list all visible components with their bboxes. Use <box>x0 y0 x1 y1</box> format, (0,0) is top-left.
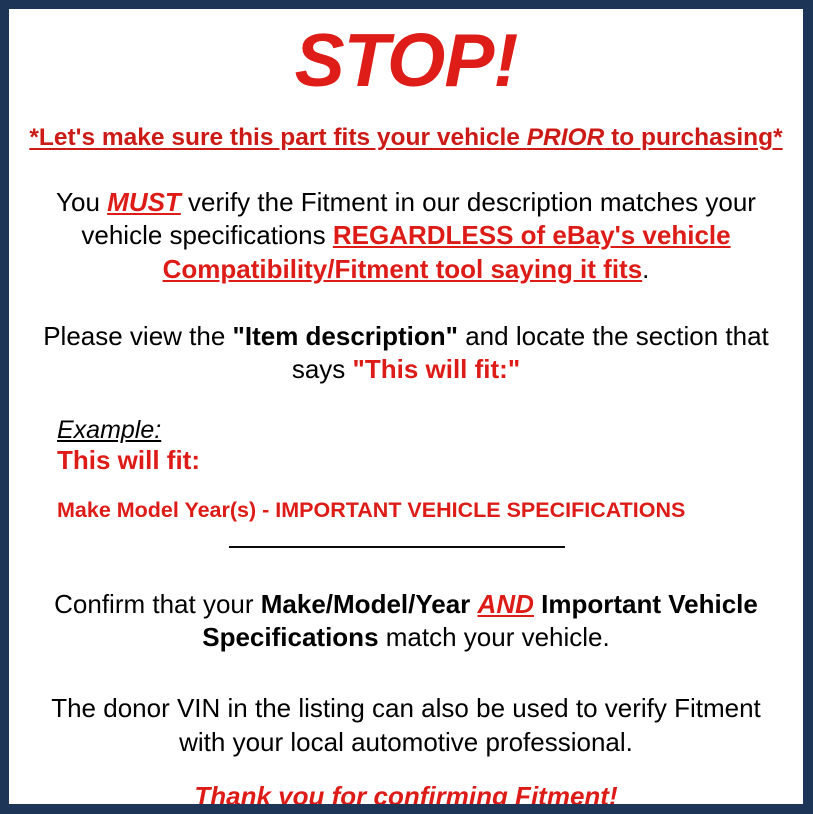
thanks-message: Thank you for confirming Fitment! <box>9 781 803 804</box>
subheadline-lead: *Let's make sure this part fits your veh… <box>29 124 526 151</box>
stop-headline: STOP! <box>9 23 803 98</box>
vin-line-2: with your local automotive professional. <box>179 727 633 757</box>
divider-rule <box>229 546 565 548</box>
make-model-year-emphasis: Make/Model/Year <box>261 589 471 619</box>
view-text-part1: Please view the <box>43 321 232 351</box>
example-fit-header: This will fit: <box>57 446 803 476</box>
example-label: Example: <box>57 417 161 445</box>
and-emphasis: AND <box>478 589 534 619</box>
example-block: Example: This will fit: Make Model Year(… <box>9 417 803 523</box>
vin-line-1: The donor VIN in the listing can also be… <box>51 693 761 723</box>
item-description-emphasis: "Item description" <box>233 321 458 351</box>
must-emphasis: MUST <box>107 187 181 217</box>
verify-text-part3: . <box>642 254 649 284</box>
subheadline-emphasis: PRIOR <box>527 124 605 151</box>
confirm-paragraph: Confirm that your Make/Model/Year AND Im… <box>9 588 803 655</box>
subheadline: *Let's make sure this part fits your veh… <box>9 124 803 152</box>
confirm-space-1 <box>470 589 477 619</box>
view-paragraph: Please view the "Item description" and l… <box>9 320 803 387</box>
verify-text-part1: You <box>56 187 107 217</box>
vin-paragraph: The donor VIN in the listing can also be… <box>9 692 803 759</box>
divider <box>9 546 803 548</box>
this-will-fit-quote: "This will fit:" <box>353 354 521 384</box>
fitment-notice-sheet: STOP! *Let's make sure this part fits yo… <box>9 9 803 804</box>
verify-paragraph: You MUST verify the Fitment in our descr… <box>9 186 803 286</box>
example-spec-line: Make Model Year(s) - IMPORTANT VEHICLE S… <box>57 498 803 523</box>
confirm-text-part1: Confirm that your <box>54 589 261 619</box>
subheadline-tail: to purchasing* <box>604 124 782 151</box>
confirm-text-part2: match your vehicle. <box>379 622 610 652</box>
example-label-row: Example: <box>57 417 803 445</box>
fitment-notice-frame: STOP! *Let's make sure this part fits yo… <box>0 0 813 814</box>
